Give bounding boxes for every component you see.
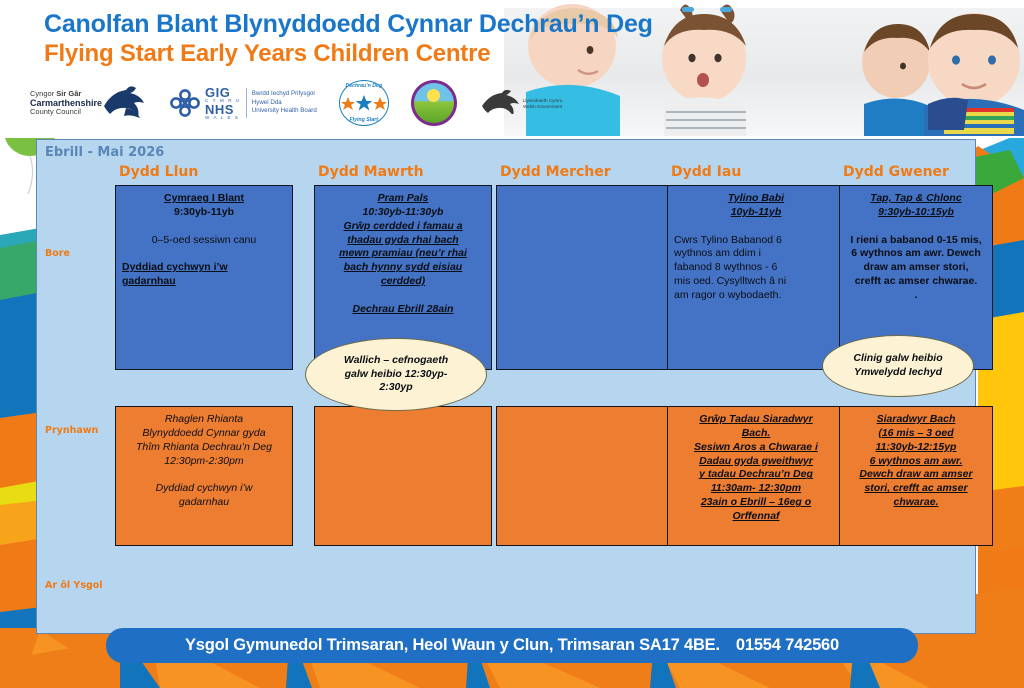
partner-logos-row: Cyngor Sir Gâr Carmarthenshire County Co… <box>30 78 562 128</box>
health-board-line2: Hywel Dda <box>252 99 317 108</box>
cell-text-line <box>122 468 286 482</box>
cell-text-line: y tadau Dechrau’n Deg <box>674 468 838 482</box>
welsh-government-logo: Llywodraeth Cymru Welsh Government <box>479 79 563 127</box>
council-line1-bold: Sir Gâr <box>56 89 81 98</box>
cell-text-line: Tap, Tap & Chlonc <box>846 192 986 206</box>
timetable-panel: Ebrill - Mai 2026 Bore Prynhawn Ar ôl Ys… <box>36 139 976 634</box>
callout-text-line: galw heibio 12:30yp- <box>344 368 448 382</box>
footer-contact-bar: Ysgol Gymunedol Trimsaran, Heol Waun y C… <box>106 628 918 663</box>
cell-text-line: Grŵp cerdded i famau a <box>321 220 485 234</box>
cell-text-line: Dechrau Ebrill 28ain <box>321 303 485 317</box>
flying-start-english-text: Flying Start <box>339 117 389 123</box>
cell-thursday-afternoon[interactable]: Grŵp Tadau SiaradwyrBach.Sesiwn Aros a C… <box>667 406 845 546</box>
cell-text-line <box>122 220 286 234</box>
nhs-divider <box>246 88 247 118</box>
callout-text-line: 2:30yp <box>344 381 448 395</box>
day-column-thursday: Dydd Iau Tylino Babi10yb-11yb Cwrs Tylin… <box>667 164 845 546</box>
cell-text-line: Thîm Rhianta Dechrau’n Deg <box>122 441 286 455</box>
day-header-wednesday: Dydd Mercher <box>496 164 674 180</box>
cell-text-line <box>122 247 286 261</box>
cell-wednesday-afternoon[interactable] <box>496 406 674 546</box>
cell-text-line: 11:30yb-12:15yp <box>846 441 986 455</box>
cell-text-line: mewn pramiau (neu’r rhai <box>321 247 485 261</box>
cell-text-line: Dyddiad cychwyn i’w <box>122 261 286 275</box>
cell-text-line: mis oed. Cysylltwch â ni <box>674 275 838 289</box>
row-label-morning: Bore <box>45 248 70 259</box>
cell-monday-afternoon[interactable]: Rhaglen RhiantaBlynyddoedd Cynnar gydaTh… <box>115 406 293 546</box>
footer-phone: 01554 742560 <box>736 636 839 654</box>
cell-text-line: 0–5-oed sessiwn canu <box>122 234 286 248</box>
nhs-wales-knot-icon <box>170 86 200 120</box>
cell-text-line: Cwrs Tylino Babanod 6 <box>674 234 838 248</box>
cell-text-line: 23ain o Ebrill – 16eg o <box>674 496 838 510</box>
cell-text-line: 6 wythnos am awr. <box>846 455 986 469</box>
cell-text-line: Blynyddoedd Cynnar gyda <box>122 427 286 441</box>
cell-text-line: crefft ac amser chwarae. <box>846 275 986 289</box>
title-block: Canolfan Blant Blynyddoedd Cynnar Dechra… <box>44 10 653 69</box>
cell-text-line: bach hynny sydd eisiau <box>321 261 485 275</box>
day-header-friday: Dydd Gwener <box>839 164 993 180</box>
cell-text-line: 11:30am- 12:30pm <box>674 482 838 496</box>
footer-address: Ysgol Gymunedol Trimsaran, Heol Waun y C… <box>185 636 720 654</box>
cell-text-line: Bach. <box>674 427 838 441</box>
callout-text-line: Wallich – cefnogaeth <box>344 354 448 368</box>
cell-text-line: Cymraeg I Blant <box>122 192 286 206</box>
cell-text-line <box>674 220 838 234</box>
cell-friday-afternoon[interactable]: Siaradwyr Bach(16 mis – 3 oed11:30yb-12:… <box>839 406 993 546</box>
page-title-english: Flying Start Early Years Children Centre <box>44 40 653 69</box>
council-line1: Cyngor <box>30 89 56 98</box>
cell-text-line: 12:30pm-2:30pm <box>122 455 286 469</box>
callout-clinig[interactable]: Clinig galw heibioYmwelydd Iechyd <box>822 335 974 397</box>
cell-text-line: gadarnhau <box>122 275 286 289</box>
cell-text-line: thadau gyda rhai bach <box>321 234 485 248</box>
cell-text-line: Pram Pals <box>321 192 485 206</box>
day-header-tuesday: Dydd Mawrth <box>314 164 492 180</box>
page-header: Canolfan Blant Blynyddoedd Cynnar Dechra… <box>0 0 1024 138</box>
cell-text-line: 6 wythnos am awr. Dewch <box>846 247 986 261</box>
date-range-label: Ebrill - Mai 2026 <box>45 145 164 160</box>
cell-tuesday-afternoon[interactable] <box>314 406 492 546</box>
nhs-wales-hywel-dda-logo: GIG C Y M R U NHS W A L E S Bwrdd Iechyd… <box>170 79 317 127</box>
nhs-wales-text: W A L E S <box>205 116 241 121</box>
cell-text-line: Orffennaf <box>674 510 838 524</box>
cell-text-line: 9:30yb-10:15yb <box>846 206 986 220</box>
cell-text-line: Grŵp Tadau Siaradwyr <box>674 413 838 427</box>
health-board-line3: University Health Board <box>252 107 317 116</box>
welsh-gov-line2: Welsh Government <box>523 104 563 110</box>
cell-monday-morning[interactable]: Cymraeg I Blant9:30yb-11yb 0–5-oed sessi… <box>115 185 293 370</box>
flying-start-welsh-text: Dechrau’n Deg <box>339 83 389 89</box>
cell-text-line: . <box>846 289 986 303</box>
cell-text-line: wythnos am ddim i <box>674 247 838 261</box>
school-crest-badge-logo <box>411 79 457 127</box>
day-header-thursday: Dydd Iau <box>667 164 845 180</box>
cell-text-line: 9:30yb-11yb <box>122 206 286 220</box>
cell-text-line <box>321 289 485 303</box>
cell-text-line: (16 mis – 3 oed <box>846 427 986 441</box>
cell-text-line: gadarnhau <box>122 496 286 510</box>
day-column-wednesday: Dydd Mercher <box>496 164 674 546</box>
cell-text-line: Tylino Babi <box>674 192 838 206</box>
cell-text-line: draw am amser stori, <box>846 261 986 275</box>
footer-text: Ysgol Gymunedol Trimsaran, Heol Waun y C… <box>185 636 839 655</box>
cell-text-line <box>846 220 986 234</box>
cell-text-line: Rhaglen Rhianta <box>122 413 286 427</box>
cell-text-line: Dewch draw am amser <box>846 468 986 482</box>
cell-text-line: Sesiwn Aros a Chwarae i <box>674 441 838 455</box>
crest-outer-ring <box>411 80 457 126</box>
cell-wednesday-morning[interactable] <box>496 185 674 370</box>
flying-start-roundel-logo: Dechrau’n Deg Flying Start <box>339 80 389 126</box>
welsh-dragon-icon <box>479 88 523 114</box>
crest-sun-icon <box>427 89 440 102</box>
cell-text-line: Dadau gyda gweithwyr <box>674 455 838 469</box>
callout-text-line: Ymwelydd Iechyd <box>853 366 942 380</box>
page-title-welsh: Canolfan Blant Blynyddoedd Cynnar Dechra… <box>44 10 653 38</box>
dragon-icon <box>102 86 148 120</box>
nhs-gig-text: GIG <box>205 86 241 99</box>
day-column-monday: Dydd Llun Cymraeg I Blant9:30yb-11yb 0–5… <box>115 164 293 546</box>
callout-text-line: Clinig galw heibio <box>853 352 942 366</box>
health-board-line1: Bwrdd Iechyd Prifysgol <box>252 90 317 99</box>
callout-wallich[interactable]: Wallich – cefnogaethgalw heibio 12:30yp-… <box>305 338 487 411</box>
cell-text-line: stori, crefft ac amser <box>846 482 986 496</box>
row-label-afternoon: Prynhawn <box>45 425 98 436</box>
carmarthenshire-county-council-logo: Cyngor Sir Gâr Carmarthenshire County Co… <box>30 79 148 127</box>
crest-scene <box>414 83 454 123</box>
cell-text-line: am ragor o wybodaeth. <box>674 289 838 303</box>
row-label-afterschool: Ar ôl Ysgol <box>45 580 103 591</box>
cell-text-line: 10yb-11yb <box>674 206 838 220</box>
flying-start-stars-icon <box>339 95 389 113</box>
day-header-monday: Dydd Llun <box>115 164 293 180</box>
council-line3: County Council <box>30 108 102 116</box>
cell-text-line: 10:30yb-11:30yb <box>321 206 485 220</box>
cell-text-line: fabanod 8 wythnos - 6 <box>674 261 838 275</box>
cell-text-line: Siaradwyr Bach <box>846 413 986 427</box>
cell-thursday-morning[interactable]: Tylino Babi10yb-11yb Cwrs Tylino Babanod… <box>667 185 845 370</box>
cell-text-line: Dyddiad cychwyn i’w <box>122 482 286 496</box>
cell-text-line: cerdded) <box>321 275 485 289</box>
cell-text-line: I rieni a babanod 0-15 mis, <box>846 234 986 248</box>
cell-text-line: chwarae. <box>846 496 986 510</box>
